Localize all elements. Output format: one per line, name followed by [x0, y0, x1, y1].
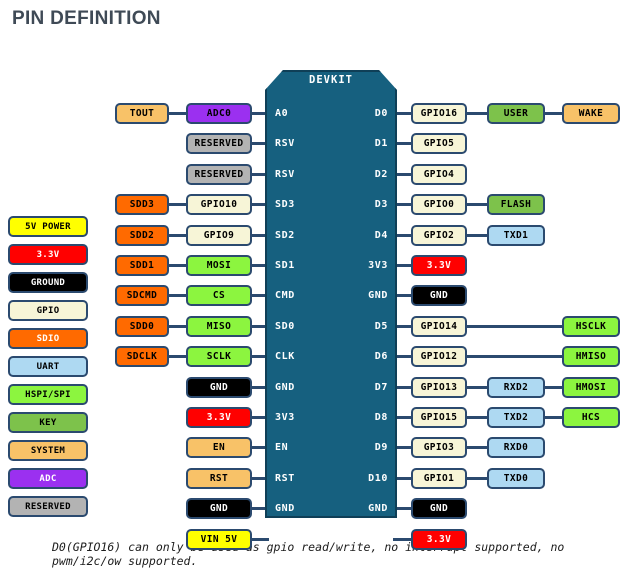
- pin-box-rxd0: RXD0: [487, 437, 545, 458]
- chip-pin-right-1: D1: [330, 133, 388, 154]
- chip-pin-left-11: EN: [275, 437, 335, 458]
- pin-box-adc0: ADC0: [186, 103, 252, 124]
- wire-segment: [169, 355, 186, 358]
- pin-box-sdd3: SDD3: [115, 194, 169, 215]
- chip-pin-left-6: CMD: [275, 285, 335, 306]
- pin-box-vin-5v: VIN 5V: [186, 529, 252, 550]
- wire-segment: [169, 234, 186, 237]
- chip-pin-right-12: D10: [330, 468, 388, 489]
- wire-segment: [467, 325, 562, 328]
- legend-item-5v-power: 5V POWER: [8, 216, 88, 237]
- pin-box-sdcmd: SDCMD: [115, 285, 169, 306]
- wire-segment: [169, 112, 186, 115]
- wire-segment: [545, 416, 562, 419]
- pin-box-sdclk: SDCLK: [115, 346, 169, 367]
- wire-segment: [467, 112, 487, 115]
- wire-segment: [169, 325, 186, 328]
- chip-pin-right-0: D0: [330, 103, 388, 124]
- wire-segment: [467, 386, 487, 389]
- pin-box-gpio15: GPIO15: [411, 407, 467, 428]
- pin-box-gnd: GND: [186, 498, 252, 519]
- chip-pin-right-3: D3: [330, 194, 388, 215]
- pin-box-en: EN: [186, 437, 252, 458]
- pin-box-reserved: RESERVED: [186, 164, 252, 185]
- pin-box-hmosi: HMOSI: [562, 377, 620, 398]
- wire-segment: [545, 386, 562, 389]
- wire-segment: [393, 538, 411, 541]
- wire-segment: [467, 446, 487, 449]
- pin-box-gpio5: GPIO5: [411, 133, 467, 154]
- pin-box-gpio3: GPIO3: [411, 437, 467, 458]
- chip-pin-left-7: SD0: [275, 316, 335, 337]
- pin-box-txd2: TXD2: [487, 407, 545, 428]
- pin-box-gnd: GND: [186, 377, 252, 398]
- chip-pin-right-7: D5: [330, 316, 388, 337]
- wire-segment: [467, 203, 487, 206]
- wire-segment: [545, 112, 562, 115]
- chip-pin-left-2: RSV: [275, 164, 335, 185]
- pin-box-3-3v: 3.3V: [186, 407, 252, 428]
- chip-pin-right-13: GND: [330, 498, 388, 519]
- chip-pin-left-4: SD2: [275, 225, 335, 246]
- pin-box-gpio4: GPIO4: [411, 164, 467, 185]
- pin-box-gpio13: GPIO13: [411, 377, 467, 398]
- wire-segment: [252, 538, 269, 541]
- pin-box-gpio2: GPIO2: [411, 225, 467, 246]
- chip-pin-right-11: D9: [330, 437, 388, 458]
- pin-box-sdd0: SDD0: [115, 316, 169, 337]
- chip-name-label: DEVKIT: [265, 74, 397, 86]
- pin-box-hmiso: HMISO: [562, 346, 620, 367]
- pin-box-hcs: HCS: [562, 407, 620, 428]
- pin-box-hsclk: HSCLK: [562, 316, 620, 337]
- chip-pin-left-8: CLK: [275, 346, 335, 367]
- pin-box-reserved: RESERVED: [186, 133, 252, 154]
- chip-pin-left-5: SD1: [275, 255, 335, 276]
- chip-pin-left-3: SD3: [275, 194, 335, 215]
- pin-box-gnd: GND: [411, 498, 467, 519]
- wire-segment: [467, 355, 562, 358]
- legend: 5V POWER3.3VGROUNDGPIOSDIOUARTHSPI/SPIKE…: [8, 216, 88, 524]
- pin-box-flash: FLASH: [487, 194, 545, 215]
- pin-box-sclk: SCLK: [186, 346, 252, 367]
- legend-item-ground: GROUND: [8, 272, 88, 293]
- legend-item-reserved: RESERVED: [8, 496, 88, 517]
- legend-item-sdio: SDIO: [8, 328, 88, 349]
- legend-item-uart: UART: [8, 356, 88, 377]
- pin-box-sdd2: SDD2: [115, 225, 169, 246]
- chip-pin-left-13: GND: [275, 498, 335, 519]
- chip-pin-right-14: 3V3: [330, 529, 388, 550]
- pin-box-wake: WAKE: [562, 103, 620, 124]
- pin-box-rxd2: RXD2: [487, 377, 545, 398]
- chip-pin-left-0: A0: [275, 103, 335, 124]
- pin-box-gpio12: GPIO12: [411, 346, 467, 367]
- chip-pin-right-6: GND: [330, 285, 388, 306]
- pin-box-cs: CS: [186, 285, 252, 306]
- chip-pin-right-8: D6: [330, 346, 388, 367]
- pin-box-gnd: GND: [411, 285, 467, 306]
- pin-box-gpio0: GPIO0: [411, 194, 467, 215]
- pin-box-gpio16: GPIO16: [411, 103, 467, 124]
- chip-pin-left-10: 3V3: [275, 407, 335, 428]
- chip-pin-left-14: Vin: [275, 529, 335, 550]
- chip-pin-right-4: D4: [330, 225, 388, 246]
- wire-segment: [467, 416, 487, 419]
- pin-box-gpio1: GPIO1: [411, 468, 467, 489]
- wire-segment: [169, 203, 186, 206]
- wire-segment: [169, 264, 186, 267]
- pin-box-gpio9: GPIO9: [186, 225, 252, 246]
- legend-item-key: KEY: [8, 412, 88, 433]
- pin-box-user: USER: [487, 103, 545, 124]
- pin-box-sdd1: SDD1: [115, 255, 169, 276]
- pin-box-3-3v: 3.3V: [411, 529, 467, 550]
- chip-pin-right-2: D2: [330, 164, 388, 185]
- legend-item-gpio: GPIO: [8, 300, 88, 321]
- chip-pin-left-12: RST: [275, 468, 335, 489]
- chip-pin-right-5: 3V3: [330, 255, 388, 276]
- wire-segment: [467, 477, 487, 480]
- pin-box-tout: TOUT: [115, 103, 169, 124]
- chip-pin-right-9: D7: [330, 377, 388, 398]
- chip-pin-left-1: RSV: [275, 133, 335, 154]
- pin-box-txd0: TXD0: [487, 468, 545, 489]
- pin-box-gpio10: GPIO10: [186, 194, 252, 215]
- legend-item-system: SYSTEM: [8, 440, 88, 461]
- pin-box-3-3v: 3.3V: [411, 255, 467, 276]
- legend-item-adc: ADC: [8, 468, 88, 489]
- wire-segment: [467, 234, 487, 237]
- pin-box-rst: RST: [186, 468, 252, 489]
- legend-item-hspi-spi: HSPI/SPI: [8, 384, 88, 405]
- chip-pin-right-10: D8: [330, 407, 388, 428]
- pin-box-miso: MISO: [186, 316, 252, 337]
- page-title: PIN DEFINITION: [12, 8, 161, 30]
- pin-box-txd1: TXD1: [487, 225, 545, 246]
- pin-box-mosi: MOSI: [186, 255, 252, 276]
- legend-item-3-3v: 3.3V: [8, 244, 88, 265]
- chip-pin-left-9: GND: [275, 377, 335, 398]
- pin-box-gpio14: GPIO14: [411, 316, 467, 337]
- wire-segment: [169, 294, 186, 297]
